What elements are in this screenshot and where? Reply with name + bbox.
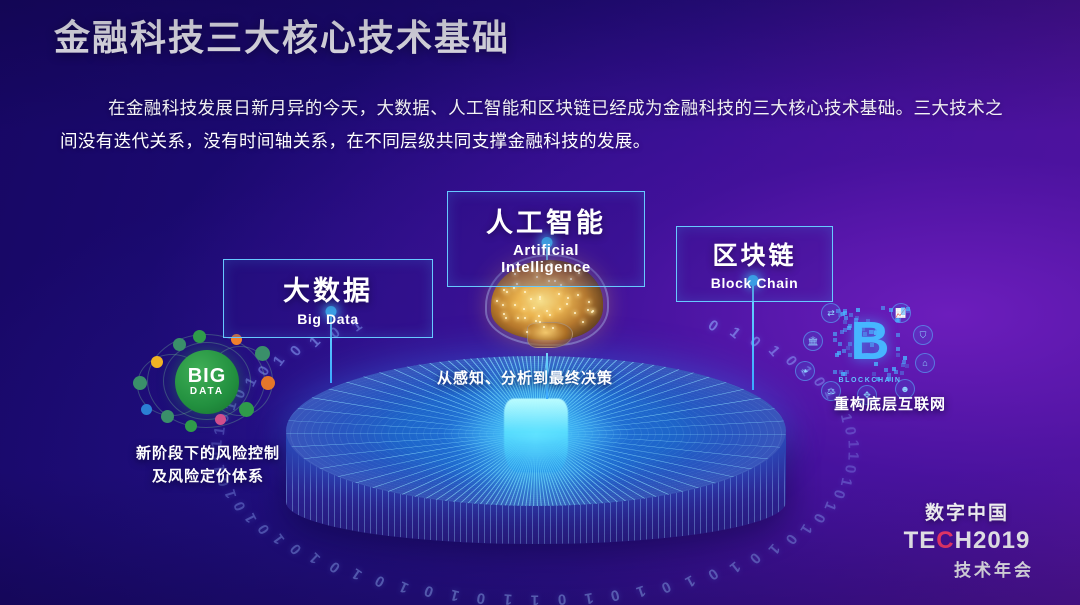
brain-spark [514, 304, 516, 306]
brain-spark [506, 291, 508, 293]
binary-digit: 0 [830, 487, 849, 500]
binary-digit: 0 [659, 577, 674, 596]
brain-spark [577, 294, 579, 296]
blockchain-pixel [858, 329, 862, 333]
binary-digit: 1 [583, 589, 594, 605]
brain-spark [559, 308, 561, 310]
brain-spark [526, 331, 528, 333]
bigdata-icon-cluster: BIG DATA [133, 328, 283, 436]
blockchain-pixel [849, 313, 853, 317]
bigdata-badge-bottom: DATA [190, 386, 224, 397]
brain-spark [513, 287, 515, 289]
blockchain-pixel [840, 330, 844, 334]
blockchain-pixel [894, 370, 898, 374]
binary-digit: 0 [422, 582, 436, 601]
bigdata-badge-top: BIG [188, 367, 227, 386]
bigdata-badge: BIG DATA [175, 350, 239, 414]
node-dot-pink [215, 414, 226, 425]
blockchain-pixel [845, 370, 849, 374]
binary-digit: 0 [609, 586, 621, 605]
blockchain-pixel [875, 327, 879, 331]
blockchain-pixel [838, 342, 842, 346]
binary-digit: 0 [746, 333, 764, 351]
binary-digit: 0 [841, 426, 859, 436]
blockchain-pixel [848, 342, 852, 346]
brain-stem [527, 322, 573, 348]
blockchain-pixel [906, 309, 910, 313]
node-doc-icon [161, 410, 174, 423]
node-dot-yellow [151, 356, 163, 368]
caption-blockchain: 重构底层互联网 [790, 393, 990, 416]
blockchain-pixel [870, 343, 874, 347]
binary-digit: 1 [503, 591, 513, 605]
blockchain-icon-cluster: B BLOCKCHAIN ⇄ 🏛 ❧ ⚖ ✥ ☻ ⌂ ⛉ 📈 [795, 303, 945, 401]
binary-digit: 0 [705, 565, 721, 584]
label-card-blockchain-en: Block Chain [695, 275, 814, 291]
binary-digit: 1 [726, 557, 743, 575]
brain-spark [549, 314, 551, 316]
node-db-icon [173, 338, 186, 351]
node-dot-blue [141, 404, 152, 415]
binary-digit: 1 [844, 452, 861, 461]
binary-digit: 1 [726, 324, 743, 342]
blockchain-pixel [842, 349, 846, 353]
binary-digit: 1 [531, 592, 539, 605]
brain-spark [503, 313, 505, 315]
logo-accent-glyph: C [936, 527, 954, 554]
binary-digit: 1 [837, 476, 855, 488]
node-bar-icon [239, 402, 254, 417]
blockchain-pixel [887, 377, 891, 381]
caption-bigdata: 新阶段下的风险控制 及风险定价体系 [93, 442, 323, 488]
blockchain-pixel [833, 338, 837, 342]
logo-line-3: 技术年会 [892, 556, 1042, 581]
blockchain-pixel [902, 360, 906, 364]
node-lock-icon [261, 376, 275, 390]
label-card-blockchain[interactable]: 区块链 Block Chain [676, 226, 833, 302]
blockchain-pixel [843, 320, 847, 324]
blockchain-pixel [844, 316, 848, 320]
caption-ai: 从感知、分析到最终决策 [405, 367, 645, 390]
blockchain-pixel [848, 324, 852, 328]
label-card-bigdata[interactable]: 大数据 Big Data [223, 259, 433, 338]
blockchain-pixel [837, 351, 841, 355]
blockchain-pixel [901, 307, 905, 311]
blockchain-pixel [833, 332, 837, 336]
node-bank-icon: 🏛 [803, 331, 823, 351]
blockchain-pixel [866, 353, 870, 357]
blockchain-pixel [884, 368, 888, 372]
binary-digit: 1 [242, 510, 261, 525]
binary-digit: 0 [841, 464, 859, 474]
caption-bigdata-line2: 及风险定价体系 [93, 465, 323, 488]
blockchain-pixel [905, 364, 909, 368]
disc-core-glow [504, 398, 568, 472]
brain-spark [502, 304, 504, 306]
binary-digit: 1 [222, 487, 241, 500]
blockchain-pixel [848, 353, 852, 357]
event-logo: 数字中国 TECH2019 技术年会 [892, 498, 1042, 581]
node-dot-green [185, 420, 197, 432]
slide-canvas: 金融科技三大核心技术基础 在金融科技发展日新月异的今天，大数据、人工智能和区块链… [0, 0, 1080, 605]
binary-digit: 0 [327, 557, 344, 575]
blockchain-pixel [876, 377, 880, 381]
label-card-ai[interactable]: 人工智能 Artificial Intelligence [447, 191, 645, 287]
brain-spark [592, 310, 594, 312]
binary-digit: 0 [230, 499, 249, 513]
node-shield-icon: ⛉ [913, 325, 933, 345]
blockchain-pixel [896, 353, 900, 357]
label-card-ai-en: Artificial Intelligence [466, 242, 626, 276]
blockchain-pixel [896, 333, 900, 337]
blockchain-pixel [855, 316, 859, 320]
blockchain-pixel [896, 319, 900, 323]
binary-digit: 1 [796, 521, 815, 537]
blockchain-pixel [871, 338, 875, 342]
logo-line-1: 数字中国 [892, 498, 1042, 525]
binary-digit: 0 [557, 591, 567, 605]
node-chart-icon [255, 346, 270, 361]
blockchain-pixel [839, 370, 843, 374]
binary-digit: 0 [705, 316, 721, 335]
blockchain-pixel [878, 350, 882, 354]
node-image-icon [133, 376, 147, 390]
blockchain-pixel [843, 309, 847, 313]
node-cloud-icon [193, 330, 206, 343]
binary-digit: 1 [821, 499, 840, 513]
blockchain-pixel [900, 371, 904, 375]
caption-bigdata-line1: 新阶段下的风险控制 [93, 442, 323, 465]
node-home-icon: ⌂ [915, 353, 935, 373]
blockchain-pixel [854, 343, 858, 347]
binary-digit: 0 [809, 510, 828, 525]
page-title: 金融科技三大核心技术基础 [54, 17, 510, 58]
label-card-bigdata-en: Big Data [242, 311, 414, 327]
binary-digit: 0 [255, 521, 274, 537]
label-card-bigdata-cn: 大数据 [242, 269, 414, 308]
binary-digit: 1 [682, 571, 698, 590]
blockchain-pixel [863, 332, 867, 336]
blockchain-pixel [856, 308, 860, 312]
label-card-ai-cn: 人工智能 [466, 201, 626, 240]
blockchain-pixel [879, 342, 883, 346]
logo-tech-suffix: H2019 [955, 527, 1031, 554]
brain-spark [503, 289, 505, 291]
blockchain-pixel [872, 372, 876, 376]
binary-digit: 1 [349, 565, 365, 584]
blockchain-pixel [889, 308, 893, 312]
brain-spark [505, 317, 507, 319]
binary-digit: 1 [449, 586, 461, 605]
blockchain-pixel [833, 370, 837, 374]
blockchain-pixel [836, 309, 840, 313]
blockchain-pixel [846, 346, 850, 350]
node-leaf-icon: ❧ [795, 361, 815, 381]
blockchain-pixel [881, 306, 885, 310]
blockchain-pixel [896, 347, 900, 351]
binary-digit: 0 [372, 571, 388, 590]
blockchain-pixel [901, 311, 905, 315]
logo-tech-prefix: TE [904, 527, 937, 554]
binary-digit: 1 [634, 582, 648, 601]
binary-digit: 1 [844, 439, 861, 448]
binary-digit: 1 [397, 577, 412, 596]
binary-digit: 0 [476, 589, 487, 605]
blockchain-pixel [874, 362, 878, 366]
body-paragraph: 在金融科技发展日新月异的今天，大数据、人工智能和区块链已经成为金融科技的三大核心… [60, 92, 1020, 158]
blockchain-pixel [866, 319, 870, 323]
label-card-blockchain-cn: 区块链 [695, 236, 814, 272]
logo-line-2: TECH2019 [892, 527, 1042, 555]
